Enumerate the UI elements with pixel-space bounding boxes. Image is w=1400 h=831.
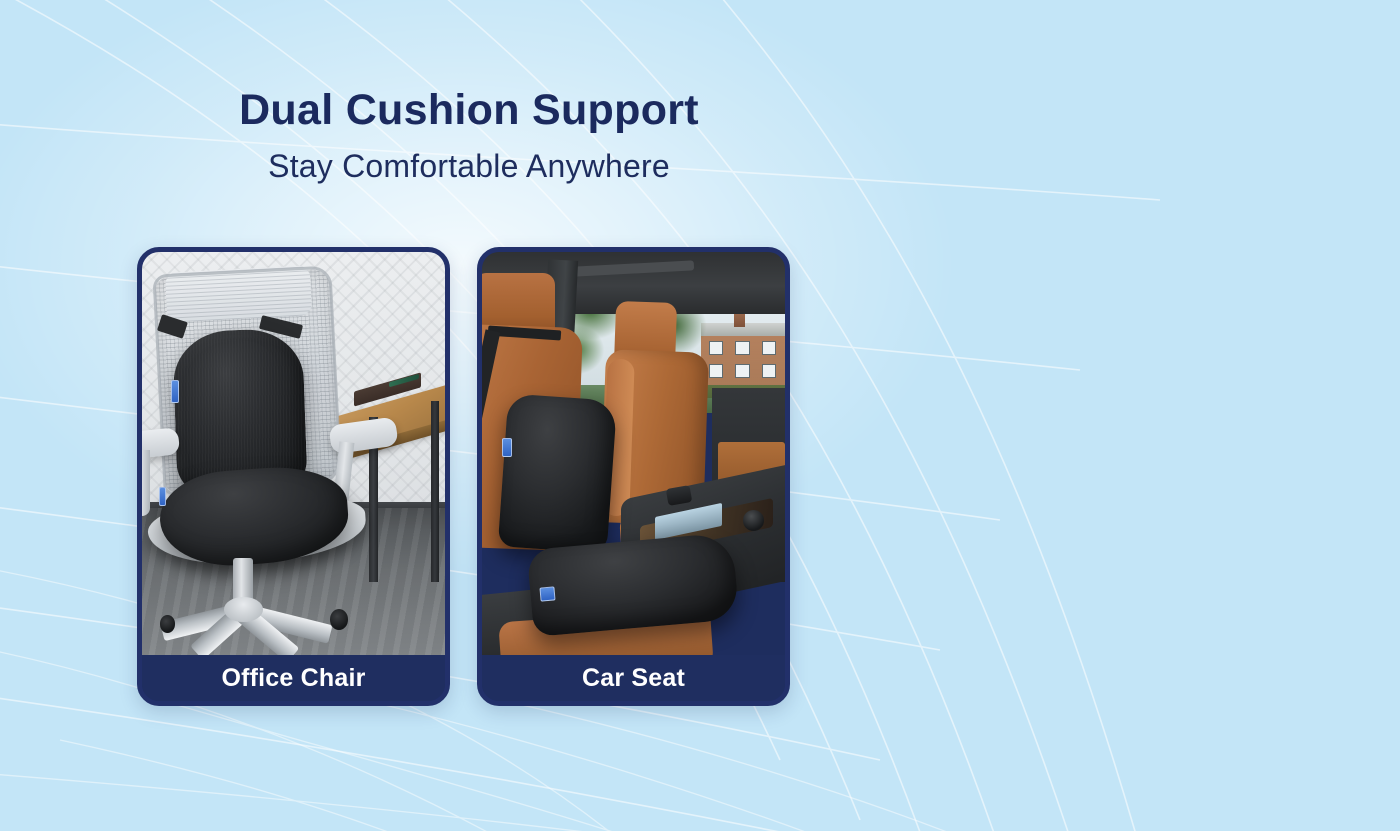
house-window xyxy=(735,364,749,378)
lumbar-cushion xyxy=(498,393,617,553)
console-control-knob xyxy=(743,510,764,531)
car-seat-photo xyxy=(482,252,785,665)
card-caption-car-seat: Car Seat xyxy=(482,655,785,701)
chair-base-hub xyxy=(224,597,263,622)
lumbar-brand-tag xyxy=(502,438,512,457)
chair-caster xyxy=(330,609,348,630)
house-window xyxy=(735,341,749,355)
heading-block: Dual Cushion Support Stay Comfortable An… xyxy=(0,88,938,184)
use-case-card-office-chair[interactable]: Office Chair xyxy=(137,247,450,706)
page-subtitle: Stay Comfortable Anywhere xyxy=(0,149,938,184)
desk-leg-back xyxy=(431,401,439,583)
lumbar-brand-tag xyxy=(171,380,179,403)
chair-caster xyxy=(160,615,175,632)
chair-armrest-post-left xyxy=(142,450,150,516)
house-chimney xyxy=(734,312,745,327)
seat-cushion xyxy=(527,532,740,636)
house-window xyxy=(762,341,776,355)
page-title: Dual Cushion Support xyxy=(0,88,938,133)
house-window xyxy=(762,364,776,378)
use-case-card-car-seat[interactable]: Car Seat xyxy=(477,247,790,706)
office-chair-photo xyxy=(142,252,445,665)
seat-cushion-brand-tag xyxy=(539,586,555,601)
use-case-card-list: Office Chair xyxy=(137,247,790,706)
seat-cushion-brand-tag xyxy=(159,487,166,505)
product-feature-banner: Dual Cushion Support Stay Comfortable An… xyxy=(0,0,1400,831)
card-caption-office-chair: Office Chair xyxy=(142,655,445,701)
